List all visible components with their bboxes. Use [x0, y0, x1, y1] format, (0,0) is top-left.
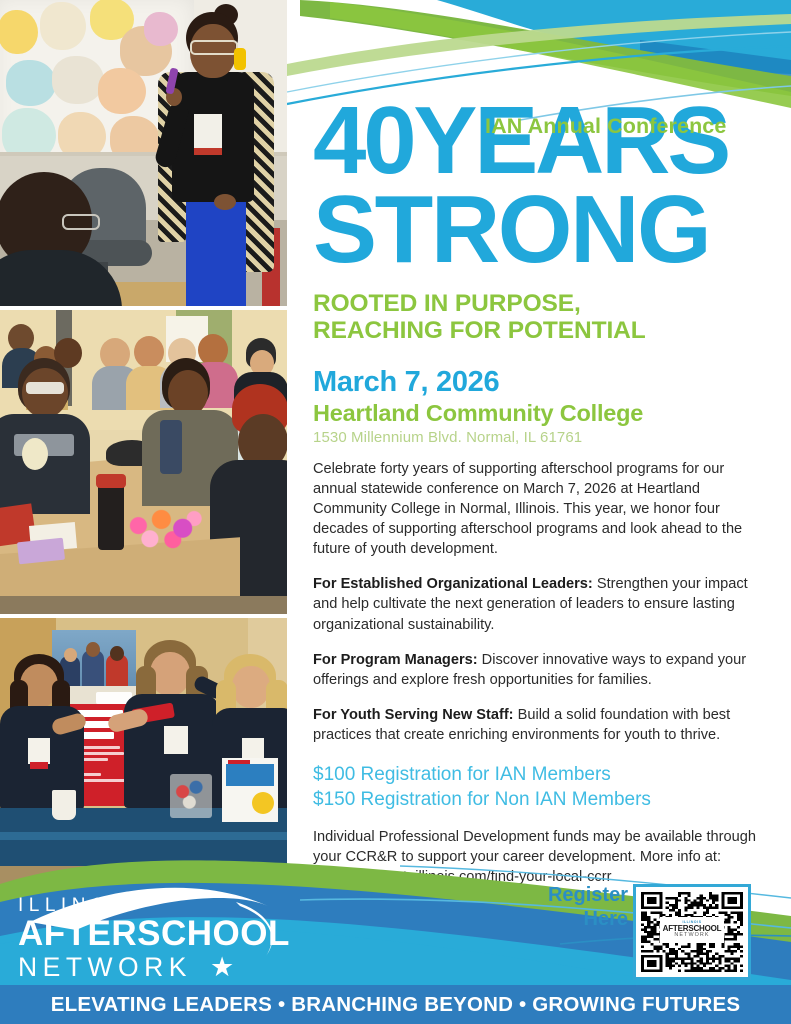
intro-paragraph: Celebrate forty years of supporting afte…	[313, 459, 761, 560]
register-line-1: Register	[536, 884, 628, 908]
flyer-content: IAN Annual Conference 40YEARS STRONG ROO…	[313, 0, 761, 977]
qr-embedded-logo: ILLINOIS AFTERSCHOOL NETWORK	[660, 917, 724, 943]
funding-note: Individual Professional Development fund…	[313, 827, 761, 887]
tagline-bar: ELEVATING LEADERS • BRANCHING BEYOND • G…	[0, 985, 791, 1024]
audience-label-new-staff: For Youth Serving New Staff:	[313, 707, 514, 723]
tagline-text: ELEVATING LEADERS • BRANCHING BEYOND • G…	[51, 993, 741, 1017]
logo-network-text: NETWORK	[18, 952, 192, 983]
register-here-label: Register Here	[536, 884, 628, 931]
audience-paragraph-new-staff: For Youth Serving New Staff: Build a sol…	[313, 705, 761, 745]
event-date: March 7, 2026	[313, 366, 761, 399]
subhead-line-1: ROOTED IN PURPOSE,	[313, 290, 761, 317]
subhead-line-2: REACHING FOR POTENTIAL	[313, 317, 761, 344]
photo-column	[0, 0, 287, 884]
conference-flyer: IAN Annual Conference 40YEARS STRONG ROO…	[0, 0, 791, 1024]
event-address: 1530 Millennium Blvd. Normal, IL 61761	[313, 429, 761, 446]
hero-headline: IAN Annual Conference 40YEARS STRONG	[313, 104, 761, 268]
audience-label-leaders: For Established Organizational Leaders:	[313, 576, 593, 592]
ian-logo: ILLINOIS AFTERSCHOOL NETWORK ★	[18, 895, 290, 983]
event-venue: Heartland Community College	[313, 400, 761, 427]
photo-exhibitor-booth	[0, 618, 287, 884]
price-non-member: $150 Registration for Non IAN Members	[313, 787, 761, 812]
star-icon: ★	[210, 954, 240, 981]
audience-paragraph-leaders: For Established Organizational Leaders: …	[313, 574, 761, 634]
audience-label-managers: For Program Managers:	[313, 652, 478, 668]
eyebrow-text: IAN Annual Conference	[485, 114, 726, 139]
logo-line-afterschool: AFTERSCHOOL	[18, 914, 290, 954]
photo-attendees	[0, 310, 287, 614]
photo-presenter	[0, 0, 287, 306]
logo-line-network: NETWORK ★	[18, 952, 290, 983]
pricing-block: $100 Registration for IAN Members $150 R…	[313, 762, 761, 813]
subhead: ROOTED IN PURPOSE, REACHING FOR POTENTIA…	[313, 290, 761, 345]
audience-paragraph-managers: For Program Managers: Discover innovativ…	[313, 650, 761, 690]
qr-logo-line-3: NETWORK	[674, 933, 709, 938]
headline-line-2: STRONG	[313, 193, 761, 268]
register-line-2: Here	[536, 908, 628, 932]
price-member: $100 Registration for IAN Members	[313, 762, 761, 787]
qr-code[interactable]: ILLINOIS AFTERSCHOOL NETWORK	[633, 884, 751, 980]
